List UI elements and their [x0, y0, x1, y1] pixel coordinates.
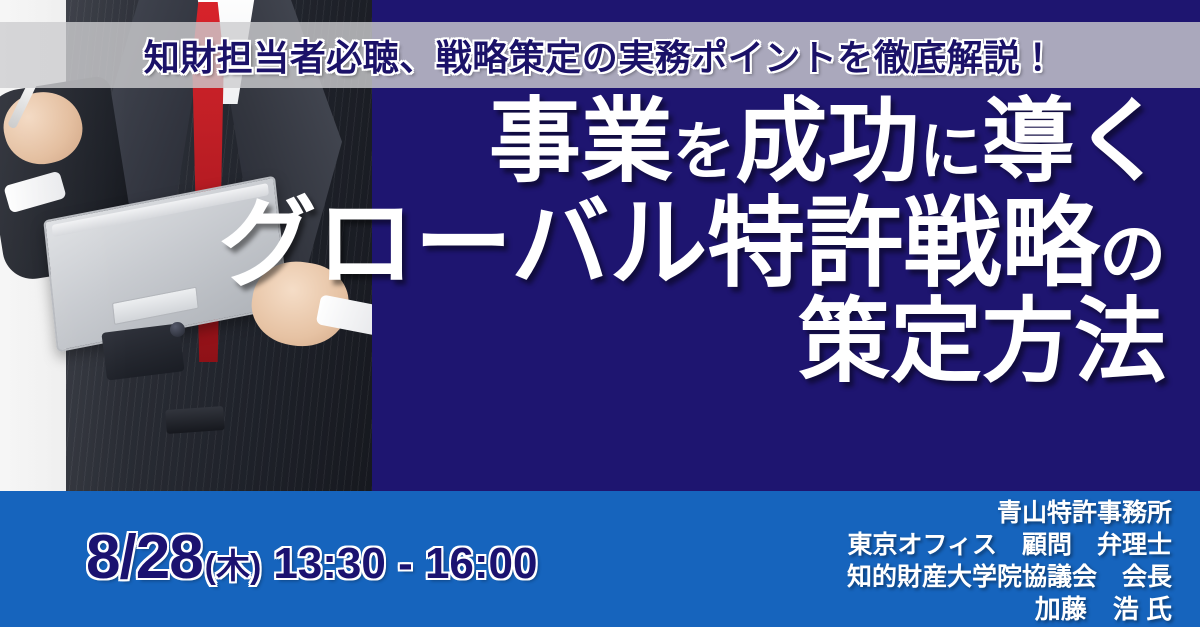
speaker-title-role: 東京オフィス 顧問 弁理士 [847, 529, 1172, 561]
jacket-button [170, 322, 185, 337]
event-day-of-week: (木) [205, 539, 262, 588]
seminar-banner: 知財担当者必聴、戦略策定の実務ポイントを徹底解説！ 事業を成功に導く グローバル… [0, 0, 1200, 627]
header-strip: 知財担当者必聴、戦略策定の実務ポイントを徹底解説！ [0, 22, 1200, 88]
header-strip-text: 知財担当者必聴、戦略策定の実務ポイントを徹底解説！ [144, 29, 1057, 81]
tablet-label-strip [112, 287, 199, 325]
belt [165, 406, 225, 434]
speaker-info: 青山特許事務所 東京オフィス 顧問 弁理士 知的財産大学院協議会 会長 加藤 浩… [847, 497, 1172, 626]
speaker-affiliation: 知的財産大学院協議会 会長 [847, 561, 1172, 593]
event-time: 13:30 - 16:00 [273, 539, 537, 589]
event-date: 8/28 [86, 522, 203, 593]
speaker-name: 加藤 浩 氏 [847, 593, 1172, 626]
footer-bar: 8/28 (木) 13:30 - 16:00 青山特許事務所 東京オフィス 顧問… [0, 491, 1200, 627]
speaker-organization: 青山特許事務所 [847, 497, 1172, 529]
event-datetime: 8/28 (木) 13:30 - 16:00 [86, 522, 538, 593]
